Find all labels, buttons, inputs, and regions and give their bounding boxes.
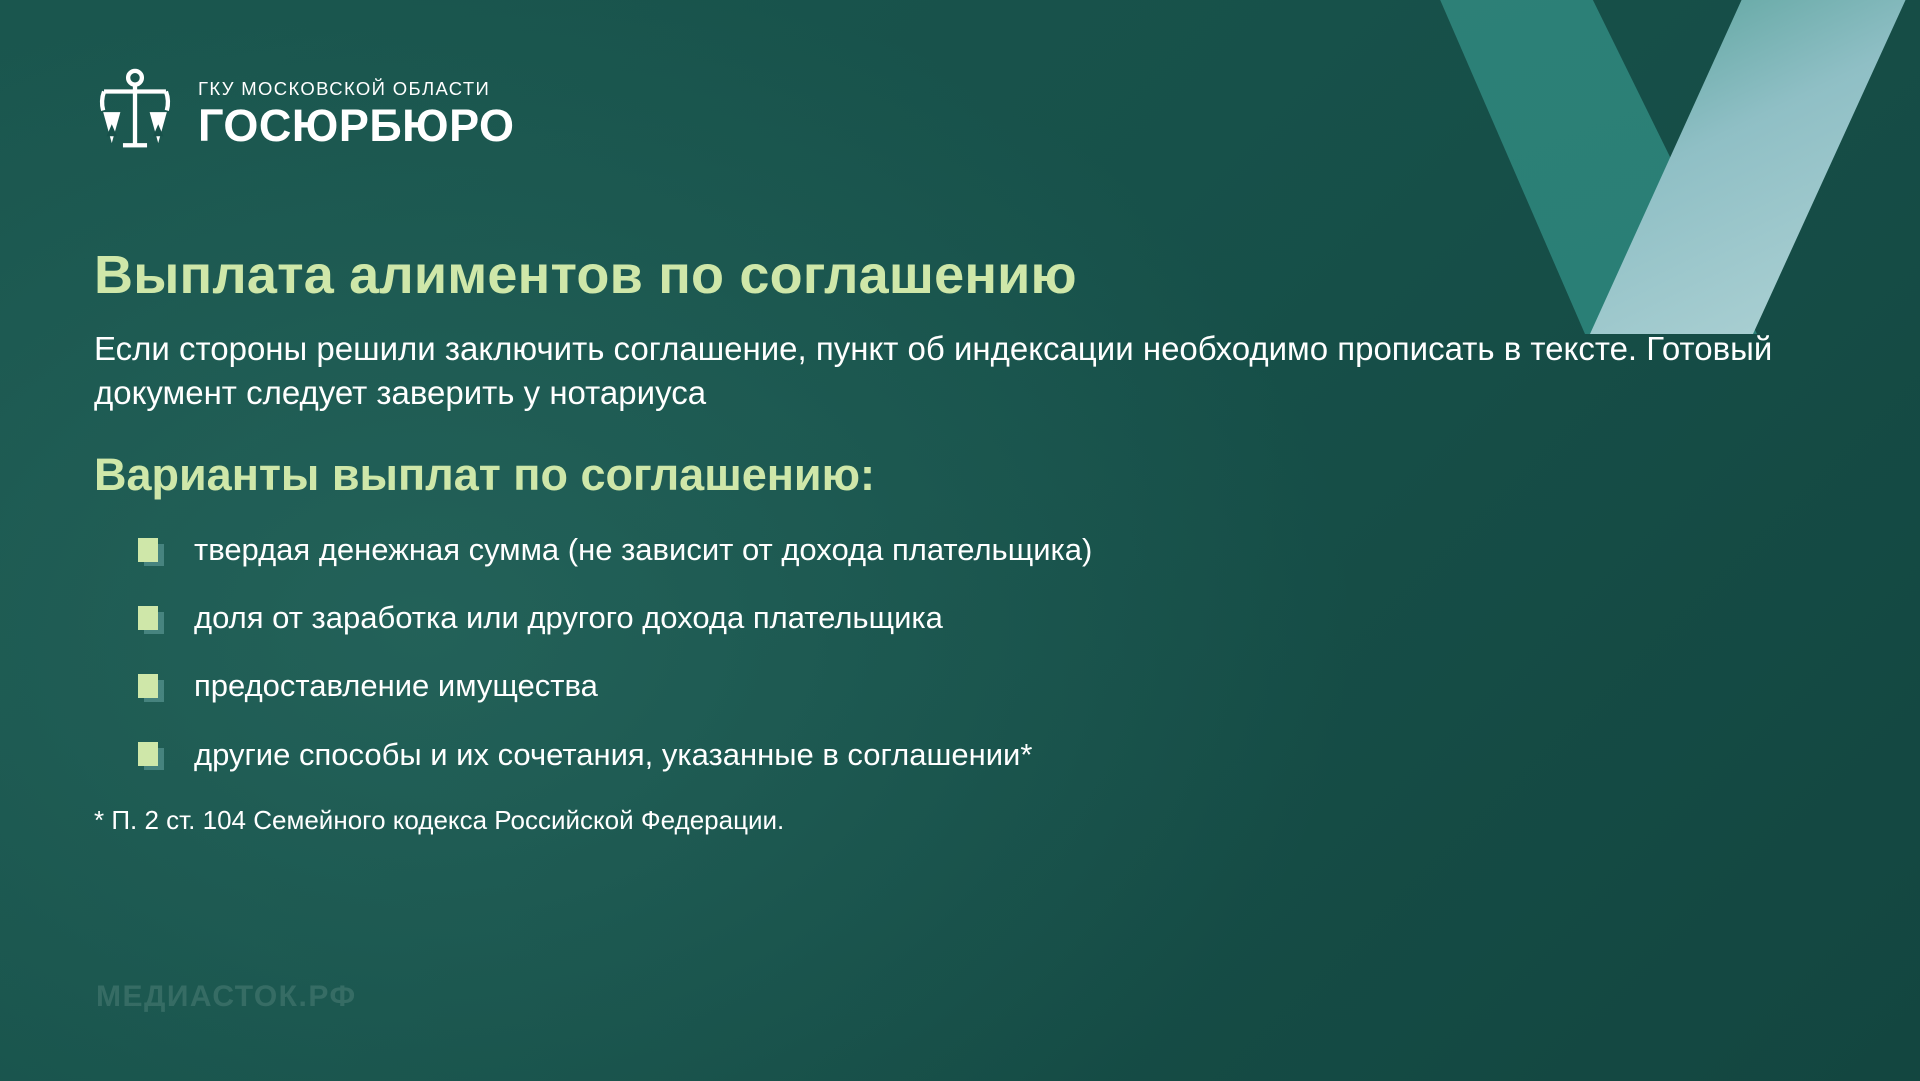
list-item-label: другие способы и их сочетания, указанные… <box>194 736 1032 773</box>
list-item: доля от заработка или другого дохода пла… <box>138 599 1854 636</box>
infographic-slide: ГКУ МОСКОВСКОЙ ОБЛАСТИ ГОСЮРБЮРО Выплата… <box>0 0 1920 1081</box>
payment-options-list: твердая денежная сумма (не зависит от до… <box>94 531 1854 773</box>
square-bullet-icon <box>138 606 164 632</box>
list-item-label: доля от заработка или другого дохода пла… <box>194 599 943 636</box>
watermark: МЕДИАСТОК.РФ <box>96 980 357 1014</box>
list-item: другие способы и их сочетания, указанные… <box>138 736 1854 773</box>
logo-kicker: ГКУ МОСКОВСКОЙ ОБЛАСТИ <box>198 80 515 99</box>
list-item-label: предоставление имущества <box>194 667 598 704</box>
section-subtitle: Варианты выплат по соглашению: <box>94 449 1854 501</box>
list-item: предоставление имущества <box>138 667 1854 704</box>
content-area: Выплата алиментов по соглашению Если сто… <box>94 245 1854 838</box>
logo: ГКУ МОСКОВСКОЙ ОБЛАСТИ ГОСЮРБЮРО <box>92 64 515 150</box>
footnote: * П. 2 ст. 104 Семейного кодекса Российс… <box>94 804 1854 838</box>
square-bullet-icon <box>138 742 164 768</box>
list-item-label: твердая денежная сумма (не зависит от до… <box>194 531 1092 568</box>
list-item: твердая денежная сумма (не зависит от до… <box>138 531 1854 568</box>
scales-of-justice-icon <box>92 64 178 150</box>
square-bullet-icon <box>138 538 164 564</box>
lead-paragraph: Если стороны решили заключить соглашение… <box>94 327 1854 415</box>
page-title: Выплата алиментов по соглашению <box>94 245 1854 305</box>
square-bullet-icon <box>138 674 164 700</box>
logo-title: ГОСЮРБЮРО <box>198 105 515 148</box>
